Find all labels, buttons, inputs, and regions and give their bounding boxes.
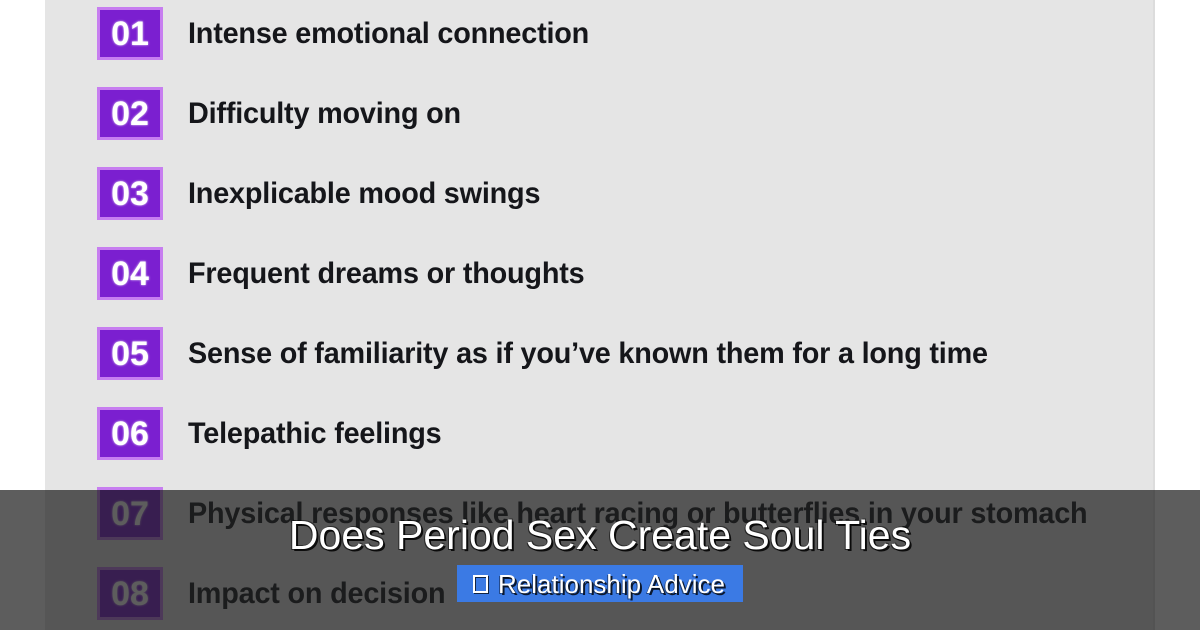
- category-badge-label: Relationship Advice: [498, 570, 725, 598]
- list-item-number: 06: [97, 407, 163, 460]
- list-item-label: Difficulty moving on: [188, 87, 1109, 140]
- list-item-number: 02: [97, 87, 163, 140]
- list-item-label: Sense of familiarity as if you’ve known …: [188, 327, 1109, 380]
- list-item: 03 Inexplicable mood swings: [97, 167, 1147, 247]
- list-item-number: 04: [97, 247, 163, 300]
- caption-overlay: Does Period Sex Create Soul Ties Relatio…: [0, 490, 1200, 630]
- missing-glyph-box-icon: [473, 575, 488, 593]
- category-badge[interactable]: Relationship Advice: [457, 565, 743, 602]
- list-item-label: Intense emotional connection: [188, 7, 1109, 60]
- list-item-label: Telepathic feelings: [188, 407, 1109, 460]
- list-item-number: 03: [97, 167, 163, 220]
- list-item: 01 Intense emotional connection: [97, 7, 1147, 87]
- list-item: 06 Telepathic feelings: [97, 407, 1147, 487]
- list-item: 05 Sense of familiarity as if you’ve kno…: [97, 327, 1147, 407]
- page-title: Does Period Sex Create Soul Ties: [289, 512, 911, 558]
- list-item-number: 01: [97, 7, 163, 60]
- screenshot-stage: 01 Intense emotional connection 02 Diffi…: [0, 0, 1200, 630]
- list-item-label: Inexplicable mood swings: [188, 167, 1109, 220]
- list-item: 02 Difficulty moving on: [97, 87, 1147, 167]
- list-item-label: Frequent dreams or thoughts: [188, 247, 1109, 300]
- list-item: 04 Frequent dreams or thoughts: [97, 247, 1147, 327]
- list-item-number: 05: [97, 327, 163, 380]
